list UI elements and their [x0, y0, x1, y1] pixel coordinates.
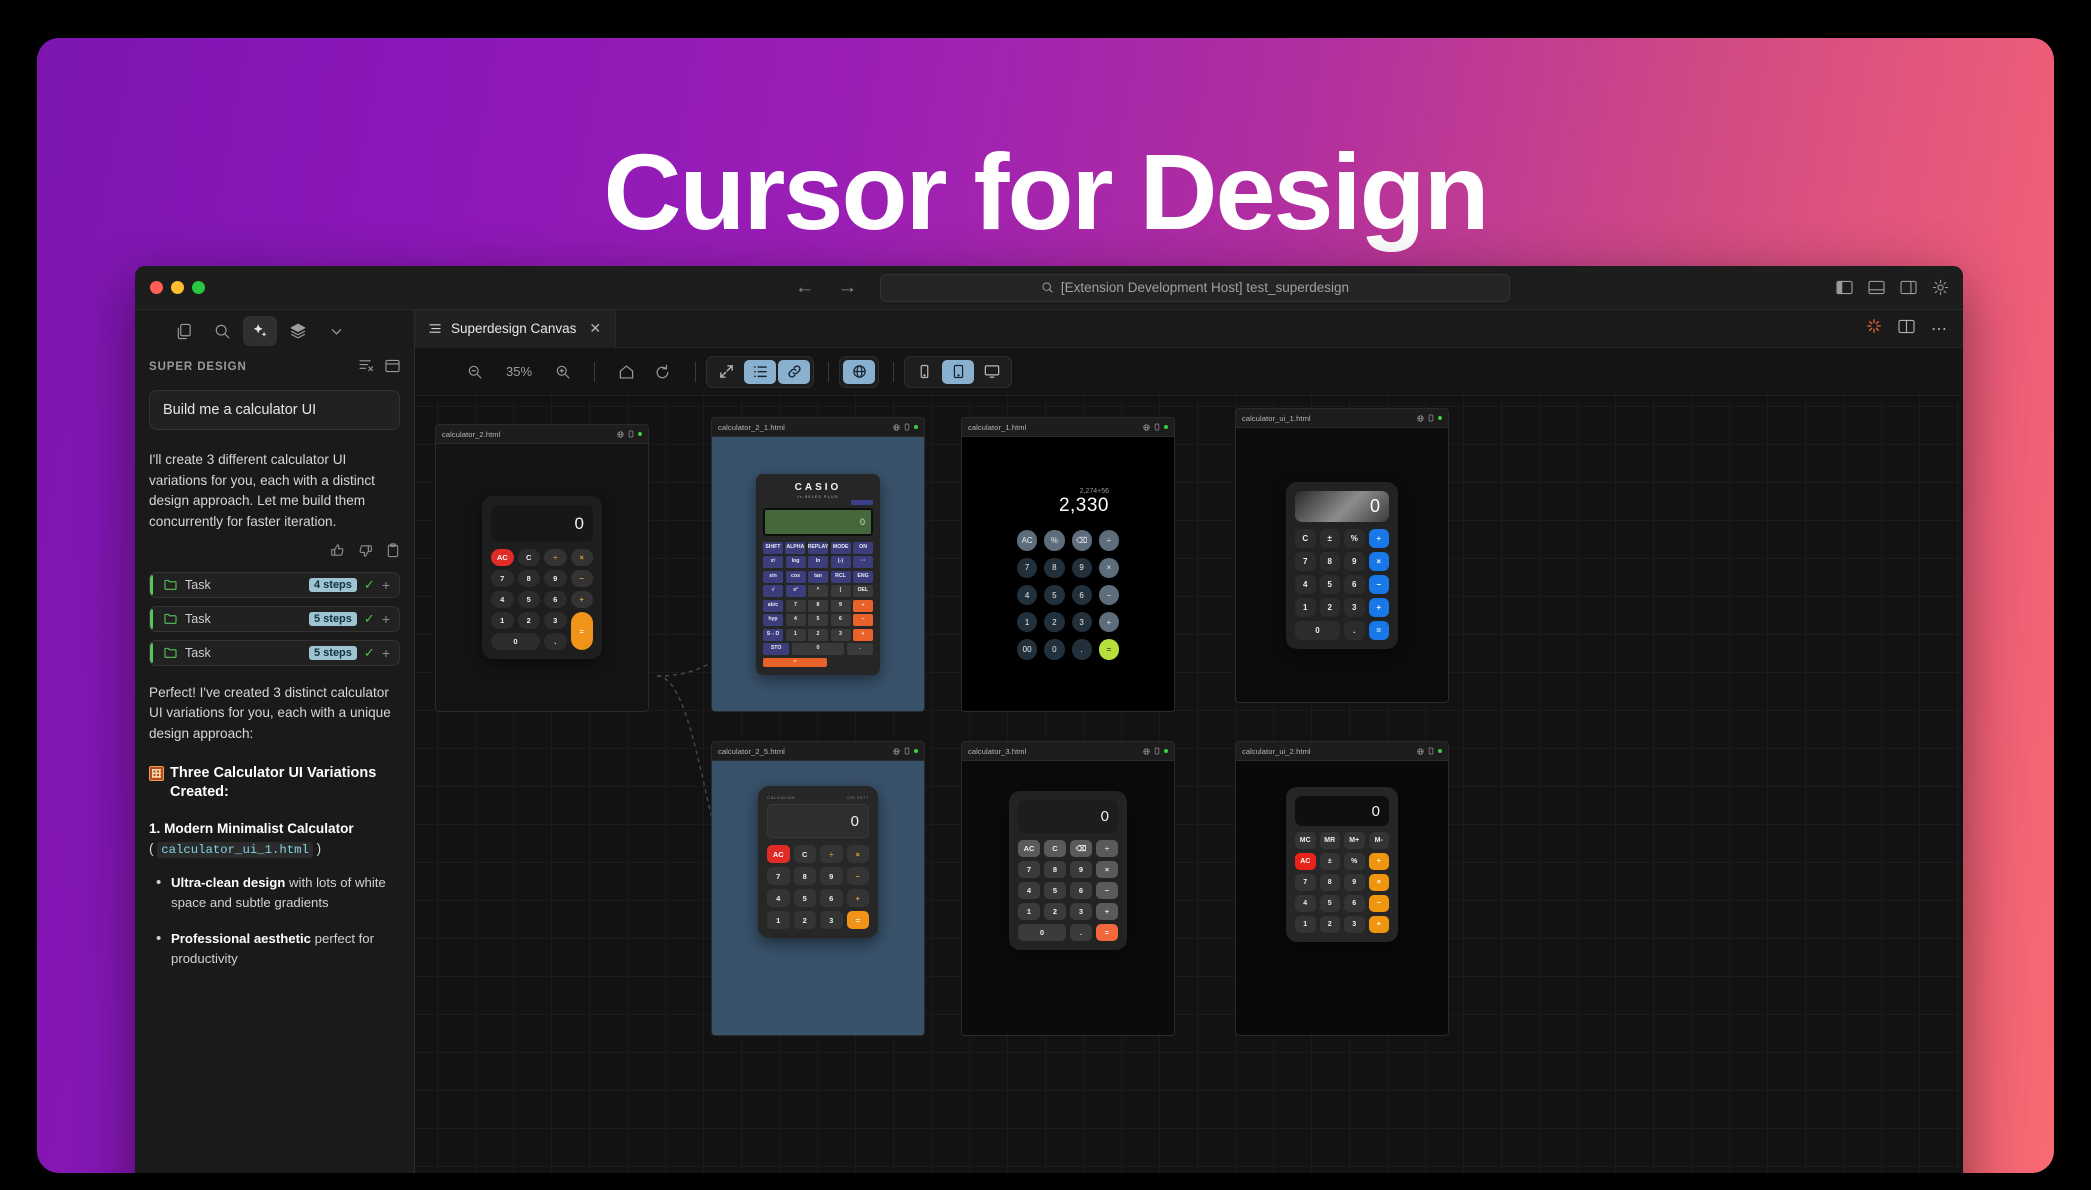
- artboard-header: calculator_ui_2.html: [1236, 742, 1448, 761]
- artboard-header: calculator_2_5.html: [712, 742, 924, 761]
- tab-label: Superdesign Canvas: [451, 321, 576, 336]
- variation-file-name[interactable]: calculator_ui_1.html: [157, 842, 313, 858]
- thumbs-up-icon[interactable]: [330, 543, 345, 558]
- artboard-header: calculator_ui_1.html: [1236, 409, 1448, 428]
- key-6[interactable]: 6: [1070, 882, 1092, 899]
- key-3[interactable]: 3: [544, 612, 567, 629]
- view-mode-segment: [706, 356, 814, 388]
- add-icon[interactable]: +: [382, 611, 390, 627]
- key-2[interactable]: 2: [1320, 916, 1341, 933]
- artboard-filename: calculator_2_1.html: [718, 423, 893, 432]
- key-backspace[interactable]: ⌫: [1072, 530, 1092, 550]
- panel-bottom-icon[interactable]: [1868, 280, 1885, 295]
- key-4[interactable]: 4: [1295, 575, 1316, 594]
- calculator-display: 0: [1295, 796, 1389, 826]
- artboard-card[interactable]: calculator_ui_2.html 0 MC: [1235, 741, 1449, 1036]
- key-rcl[interactable]: RCL: [831, 571, 851, 583]
- zoom-level[interactable]: 35%: [496, 364, 542, 379]
- key-sd[interactable]: S⇔D: [763, 629, 783, 641]
- key-tan[interactable]: tan: [808, 571, 828, 583]
- calculator-display: 0: [1018, 800, 1118, 833]
- search-icon[interactable]: [205, 316, 239, 346]
- key-4[interactable]: 4: [786, 614, 806, 626]
- key-3[interactable]: 3: [831, 629, 851, 641]
- key-1[interactable]: 1: [491, 612, 514, 629]
- editor-area: Superdesign Canvas ✕: [415, 310, 1963, 1173]
- key-equals[interactable]: =: [1099, 639, 1119, 659]
- key-hyp[interactable]: hyp: [763, 614, 783, 626]
- check-icon[interactable]: ✓: [364, 645, 375, 661]
- key-multiply[interactable]: ×: [1369, 552, 1390, 571]
- calculator-widget: 0 AC C ⌫ ÷ 7 8 9 × 4: [1009, 791, 1127, 950]
- artboard-filename: calculator_1.html: [968, 423, 1143, 432]
- key-shift[interactable]: SHIFT: [763, 542, 783, 554]
- back-icon[interactable]: ←: [795, 277, 814, 299]
- key-8[interactable]: 8: [808, 600, 828, 612]
- keypad-row: xʸ log ln (-) ···: [763, 556, 873, 568]
- key-2[interactable]: 2: [808, 629, 828, 641]
- live-status-dot: [1164, 425, 1168, 429]
- globe-icon[interactable]: [1417, 415, 1424, 422]
- keypad: AC % ⌫ ÷ 7 8 9 × 4 5: [1003, 530, 1133, 659]
- task-label: Task: [185, 646, 309, 660]
- calculator-display: 0: [767, 804, 869, 838]
- artboard-card[interactable]: calculator_ui_1.html 0 C: [1235, 408, 1449, 703]
- key-on[interactable]: ON: [853, 542, 873, 554]
- mobile-icon[interactable]: [1428, 414, 1434, 422]
- key-multiply[interactable]: ×: [1369, 874, 1390, 891]
- key-equals[interactable]: =: [847, 911, 870, 929]
- key-more[interactable]: ···: [853, 556, 873, 568]
- thumbs-down-icon[interactable]: [358, 543, 373, 558]
- artboard-header: calculator_2.html: [436, 425, 648, 444]
- check-icon[interactable]: ✓: [364, 611, 375, 627]
- key-plus[interactable]: +: [847, 889, 870, 907]
- close-window-button[interactable]: [150, 281, 163, 294]
- globe-segment: [839, 356, 879, 388]
- key-1[interactable]: 1: [1018, 903, 1040, 920]
- artboard-preview: 0 AC C ⌫ ÷ 7 8 9 × 4: [962, 761, 1174, 1035]
- canvas-toolbar: 35%: [415, 348, 1963, 396]
- artboard-card[interactable]: calculator_3.html 0 AC: [961, 741, 1175, 1036]
- desktop-icon[interactable]: [976, 360, 1008, 384]
- globe-icon[interactable]: [893, 424, 900, 431]
- key-double-zero[interactable]: 00: [1017, 639, 1037, 659]
- key-3[interactable]: 3: [1344, 598, 1365, 617]
- key-plus[interactable]: +: [1369, 598, 1390, 617]
- key-c[interactable]: C: [518, 549, 541, 566]
- key-minus[interactable]: −: [571, 570, 594, 587]
- key-4[interactable]: 4: [1017, 585, 1037, 605]
- key-6[interactable]: 6: [820, 889, 843, 907]
- key-ac[interactable]: AC: [1018, 840, 1040, 857]
- close-icon[interactable]: ✕: [589, 320, 601, 337]
- key-c[interactable]: C: [794, 845, 817, 863]
- keypad: AC C ÷ × 7 8 9 − 4 5: [767, 845, 869, 929]
- key-1[interactable]: 1: [1295, 598, 1316, 617]
- key-4[interactable]: 4: [1018, 882, 1040, 899]
- calculator-brand: CASIO: [763, 482, 873, 493]
- variations-heading-text: Three Calculator UI Variations Created:: [170, 764, 400, 803]
- key-plusminus[interactable]: ±: [1320, 853, 1341, 870]
- mobile-icon[interactable]: [1154, 423, 1160, 431]
- folder-icon: [164, 647, 177, 658]
- zoom-out-icon[interactable]: [460, 359, 490, 385]
- key-divide[interactable]: ÷: [820, 845, 843, 863]
- superdesign-sparkle-icon[interactable]: [243, 316, 277, 346]
- live-status-dot: [914, 749, 918, 753]
- explorer-icon[interactable]: [167, 316, 201, 346]
- tab-actions: ⋯: [1866, 310, 1963, 347]
- mobile-icon[interactable]: [628, 430, 634, 438]
- key-divide[interactable]: ÷: [853, 600, 873, 612]
- key-8[interactable]: 8: [1044, 861, 1066, 878]
- key-7[interactable]: 7: [1017, 558, 1037, 578]
- more-actions-icon[interactable]: ⋯: [1931, 319, 1947, 339]
- key-7[interactable]: 7: [767, 867, 790, 885]
- artboard-card[interactable]: calculator_2.html 0 AC: [435, 424, 649, 712]
- minimize-window-button[interactable]: [171, 281, 184, 294]
- key-replay[interactable]: REPLAY: [808, 542, 829, 554]
- key-decimal[interactable]: .: [544, 633, 567, 650]
- superdesign-sidebar: SUPER DESIGN: [135, 310, 415, 1173]
- key-3[interactable]: 3: [820, 911, 843, 929]
- key-power[interactable]: xʸ: [763, 556, 783, 568]
- panel-right-icon[interactable]: [1900, 280, 1917, 295]
- maximize-window-button[interactable]: [192, 281, 205, 294]
- task-row[interactable]: Task 5 steps ✓ +: [149, 640, 400, 666]
- key-9[interactable]: 9: [1344, 552, 1365, 571]
- key-2[interactable]: 2: [518, 612, 541, 629]
- key-3[interactable]: 3: [1344, 916, 1365, 933]
- mobile-icon[interactable]: [1428, 747, 1434, 755]
- mobile-icon[interactable]: [908, 360, 940, 384]
- copy-icon[interactable]: [386, 543, 400, 558]
- prompt-input[interactable]: Build me a calculator UI: [149, 390, 400, 430]
- keypad-row: √ x² ^ ( DEL: [763, 585, 873, 597]
- key-fraction[interactable]: ab/c: [763, 600, 783, 612]
- key-4[interactable]: 4: [767, 889, 790, 907]
- key-percent[interactable]: %: [1344, 853, 1365, 870]
- artboard-card[interactable]: calculator_1.html 2,274+56 2,330: [961, 417, 1175, 712]
- key-5[interactable]: 5: [1044, 585, 1064, 605]
- sidebar-title: SUPER DESIGN: [149, 361, 247, 373]
- keypad: AC C ÷ × 7 8 9 − 4 5: [491, 549, 593, 650]
- key-5[interactable]: 5: [1320, 575, 1341, 594]
- globe-icon[interactable]: [1417, 748, 1424, 755]
- key-del[interactable]: DEL: [853, 585, 873, 597]
- key-6[interactable]: 6: [544, 591, 567, 608]
- key-divide[interactable]: ÷: [1099, 530, 1119, 550]
- key-divide[interactable]: ÷: [544, 549, 567, 566]
- key-backspace[interactable]: ⌫: [1070, 840, 1092, 857]
- key-plus[interactable]: +: [853, 629, 873, 641]
- key-decimal[interactable]: .: [1070, 924, 1092, 941]
- list-item: Professional aesthetic perfect for produ…: [149, 929, 400, 969]
- key-c[interactable]: C: [1295, 529, 1316, 548]
- key-9[interactable]: 9: [1344, 874, 1365, 891]
- key-7[interactable]: 7: [1295, 552, 1316, 571]
- key-sin[interactable]: sin: [763, 571, 783, 583]
- home-icon[interactable]: [611, 359, 641, 385]
- globe-icon[interactable]: [1143, 748, 1150, 755]
- key-0[interactable]: 0: [1044, 639, 1064, 659]
- key-9[interactable]: 9: [1070, 861, 1092, 878]
- new-panel-icon[interactable]: [385, 359, 400, 376]
- brand-left: CALCULON: [767, 795, 795, 800]
- zoom-in-icon[interactable]: [548, 359, 578, 385]
- globe-icon[interactable]: [617, 431, 624, 438]
- paren-open: (: [149, 841, 154, 856]
- key-minus[interactable]: −: [1096, 882, 1118, 899]
- key-divide[interactable]: ÷: [1369, 529, 1390, 548]
- key-alpha[interactable]: ALPHA: [785, 542, 805, 554]
- task-row[interactable]: Task 4 steps ✓ +: [149, 572, 400, 598]
- nav-arrows: ← →: [795, 277, 857, 299]
- key-plus[interactable]: +: [1369, 916, 1390, 933]
- key-multiply[interactable]: ×: [1099, 558, 1119, 578]
- artboard-preview: CASIO fx-991ES PLUS 0 SHIFT ALPHA REPLAY…: [712, 437, 924, 711]
- task-steps-badge: 5 steps: [309, 612, 357, 626]
- key-8[interactable]: 8: [794, 867, 817, 885]
- keypad: C ± % ÷ 7 8 9 × 4 5: [1295, 529, 1389, 640]
- key-sto[interactable]: STO: [763, 643, 789, 655]
- key-8[interactable]: 8: [518, 570, 541, 587]
- key-0[interactable]: 0: [1295, 621, 1340, 640]
- key-m-minus[interactable]: M-: [1369, 832, 1390, 849]
- calculator-display: 0: [491, 505, 593, 542]
- key-plus[interactable]: +: [1096, 903, 1118, 920]
- key-5[interactable]: 5: [808, 614, 828, 626]
- key-c[interactable]: C: [1044, 840, 1066, 857]
- key-minus[interactable]: −: [847, 867, 870, 885]
- key-divide[interactable]: ÷: [1096, 840, 1118, 857]
- forward-icon[interactable]: →: [838, 277, 857, 299]
- key-ac[interactable]: AC: [1017, 530, 1037, 550]
- key-cos[interactable]: cos: [786, 571, 806, 583]
- key-decimal[interactable]: .: [1072, 639, 1092, 659]
- key-equals[interactable]: =: [763, 658, 827, 667]
- keypad-row: S⇔D 1 2 3 +: [763, 629, 873, 641]
- sidebar-scroll[interactable]: Build me a calculator UI I'll create 3 d…: [135, 382, 414, 1173]
- key-decimal[interactable]: .: [847, 643, 873, 655]
- layers-icon[interactable]: [281, 316, 315, 346]
- key-7[interactable]: 7: [1295, 874, 1316, 891]
- key-9[interactable]: 9: [820, 867, 843, 885]
- bullet-list: Ultra-clean design with lots of white sp…: [149, 873, 400, 968]
- key-0[interactable]: 0: [1018, 924, 1066, 941]
- key-ac[interactable]: AC: [767, 845, 790, 863]
- key-3[interactable]: 3: [1072, 612, 1092, 632]
- key-minus[interactable]: −: [1369, 895, 1390, 912]
- globe-icon[interactable]: [843, 360, 875, 384]
- key-negate[interactable]: (-): [831, 556, 851, 568]
- task-row[interactable]: Task 5 steps ✓ +: [149, 606, 400, 632]
- key-6[interactable]: 6: [831, 614, 851, 626]
- artboard-filename: calculator_3.html: [968, 747, 1143, 756]
- key-equals[interactable]: =: [571, 612, 594, 650]
- key-2[interactable]: 2: [1044, 612, 1064, 632]
- key-7[interactable]: 7: [1018, 861, 1040, 878]
- key-mc[interactable]: MC: [1295, 832, 1316, 849]
- keypad: MC MR M+ M- AC ± % ÷ 7 8: [1295, 832, 1389, 933]
- tablet-icon[interactable]: [942, 360, 974, 384]
- key-9[interactable]: 9: [1072, 558, 1092, 578]
- key-4[interactable]: 4: [491, 591, 514, 608]
- folder-icon: [164, 613, 177, 624]
- key-2[interactable]: 2: [1044, 903, 1066, 920]
- key-9[interactable]: 9: [831, 600, 851, 612]
- key-ln[interactable]: ln: [808, 556, 828, 568]
- key-sqrt[interactable]: √: [763, 585, 783, 597]
- key-1[interactable]: 1: [1017, 612, 1037, 632]
- calculator-widget: 0 MC MR M+ M- AC ± % ÷: [1286, 787, 1398, 942]
- key-8[interactable]: 8: [1320, 552, 1341, 571]
- mobile-icon[interactable]: [904, 747, 910, 755]
- vscode-window: ← → [Extension Development Host] test_su…: [135, 266, 1963, 1173]
- key-0[interactable]: 0: [792, 643, 845, 655]
- check-icon[interactable]: ✓: [364, 577, 375, 593]
- key-4[interactable]: 4: [1295, 895, 1316, 912]
- globe-icon[interactable]: [1143, 424, 1150, 431]
- calculator-widget: 0 C ± % ÷ 7 8 9 × 4: [1286, 482, 1398, 649]
- key-square[interactable]: x²: [786, 585, 806, 597]
- key-percent[interactable]: %: [1044, 530, 1064, 550]
- keypad-row: hyp 4 5 6 −: [763, 614, 873, 626]
- key-equals[interactable]: =: [1096, 924, 1118, 941]
- add-icon[interactable]: +: [382, 645, 390, 661]
- key-eng[interactable]: ENG: [853, 571, 873, 583]
- key-mode[interactable]: MODE: [831, 542, 851, 554]
- key-5[interactable]: 5: [518, 591, 541, 608]
- key-caret[interactable]: ^: [808, 585, 828, 597]
- key-1[interactable]: 1: [1295, 916, 1316, 933]
- artboard-card[interactable]: calculator_2_5.html CALCULON: [711, 741, 925, 1036]
- key-minus[interactable]: −: [1369, 575, 1390, 594]
- design-canvas[interactable]: calculator_2.html 0 AC: [415, 396, 1963, 1173]
- key-6[interactable]: 6: [1072, 585, 1092, 605]
- key-percent[interactable]: %: [1344, 529, 1365, 548]
- key-1[interactable]: 1: [767, 911, 790, 929]
- calculator-widget: CASIO fx-991ES PLUS 0 SHIFT ALPHA REPLAY…: [756, 474, 880, 675]
- key-minus[interactable]: −: [1099, 585, 1119, 605]
- key-divide[interactable]: ÷: [1369, 853, 1390, 870]
- key-2[interactable]: 2: [1320, 598, 1341, 617]
- key-ac[interactable]: AC: [491, 549, 514, 566]
- variations-heading: Three Calculator UI Variations Created:: [149, 764, 400, 803]
- task-steps-badge: 5 steps: [309, 646, 357, 660]
- fit-screen-icon[interactable]: [710, 360, 742, 384]
- chevron-down-icon[interactable]: [319, 316, 353, 346]
- artboard-preview: 0 C ± % ÷ 7 8 9 × 4: [1236, 428, 1448, 702]
- tab-superdesign-canvas[interactable]: Superdesign Canvas ✕: [415, 310, 616, 347]
- task-steps-badge: 4 steps: [309, 578, 357, 592]
- live-status-dot: [914, 425, 918, 429]
- mobile-icon[interactable]: [1154, 747, 1160, 755]
- key-1[interactable]: 1: [786, 629, 806, 641]
- key-multiply[interactable]: ×: [1096, 861, 1118, 878]
- split-editor-icon[interactable]: [1898, 319, 1915, 339]
- variation-file-line: ( calculator_ui_1.html ): [149, 841, 400, 857]
- key-5[interactable]: 5: [1044, 882, 1066, 899]
- calculator-display: 0: [1295, 491, 1389, 522]
- key-plus[interactable]: +: [1099, 612, 1119, 632]
- key-8[interactable]: 8: [1044, 558, 1064, 578]
- activity-bar: [135, 310, 414, 352]
- link-icon[interactable]: [778, 360, 810, 384]
- tab-bar: Superdesign Canvas ✕: [415, 310, 1963, 348]
- key-multiply[interactable]: ×: [847, 845, 870, 863]
- key-mr[interactable]: MR: [1320, 832, 1341, 849]
- live-status-dot: [1438, 749, 1442, 753]
- calculator-widget: 2,274+56 2,330 AC % ⌫ ÷ 7 8 9: [1003, 488, 1133, 659]
- brand-right: CR-1977: [847, 795, 869, 800]
- artboard-card[interactable]: calculator_2_1.html CASIO fx-991ES PLUS: [711, 417, 925, 712]
- artboard-filename: calculator_2.html: [442, 430, 617, 439]
- key-3[interactable]: 3: [1070, 903, 1092, 920]
- key-plus[interactable]: +: [571, 591, 594, 608]
- add-icon[interactable]: +: [382, 577, 390, 593]
- clear-list-icon[interactable]: [359, 359, 374, 375]
- key-log[interactable]: log: [786, 556, 806, 568]
- key-equals[interactable]: =: [1369, 621, 1390, 640]
- key-minus[interactable]: −: [853, 614, 873, 626]
- assistant-message: I'll create 3 different calculator UI va…: [149, 450, 400, 533]
- calculator-display: 0: [763, 508, 873, 536]
- key-6[interactable]: 6: [1344, 575, 1365, 594]
- command-center-input[interactable]: [Extension Development Host] test_superd…: [880, 274, 1510, 302]
- key-8[interactable]: 8: [1320, 874, 1341, 891]
- key-decimal[interactable]: .: [1344, 621, 1365, 640]
- mobile-icon[interactable]: [904, 423, 910, 431]
- task-label: Task: [185, 612, 309, 626]
- calculator-model: fx-991ES PLUS: [763, 494, 873, 499]
- folder-icon: [164, 579, 177, 590]
- key-m-plus[interactable]: M+: [1344, 832, 1365, 849]
- key-9[interactable]: 9: [544, 570, 567, 587]
- calculator-expression: 2,274+56: [1003, 488, 1133, 495]
- key-5[interactable]: 5: [794, 889, 817, 907]
- globe-icon[interactable]: [893, 748, 900, 755]
- keypad: AC C ⌫ ÷ 7 8 9 × 4 5: [1018, 840, 1118, 941]
- key-7[interactable]: 7: [491, 570, 514, 587]
- calculator-display: 2,330: [1003, 495, 1133, 517]
- traffic-lights[interactable]: [150, 281, 205, 294]
- artboard-preview: 0 MC MR M+ M- AC ± % ÷: [1236, 761, 1448, 1035]
- window-titlebar: ← → [Extension Development Host] test_su…: [135, 266, 1963, 310]
- key-multiply[interactable]: ×: [571, 549, 594, 566]
- refresh-icon[interactable]: [647, 359, 677, 385]
- gear-icon[interactable]: [1932, 279, 1949, 296]
- task-label: Task: [185, 578, 309, 592]
- key-paren[interactable]: (: [831, 585, 851, 597]
- sparkle-orange-icon[interactable]: [1866, 318, 1882, 339]
- omnibox-text: [Extension Development Host] test_superd…: [1061, 280, 1349, 295]
- key-2[interactable]: 2: [794, 911, 817, 929]
- solar-cell: [851, 500, 873, 505]
- panel-left-icon[interactable]: [1836, 280, 1853, 295]
- summary-text: Perfect! I've created 3 distinct calcula…: [149, 683, 400, 745]
- key-5[interactable]: 5: [1320, 895, 1341, 912]
- key-plusminus[interactable]: ±: [1320, 529, 1341, 548]
- list-view-icon[interactable]: [744, 360, 776, 384]
- artboard-filename: calculator_2_5.html: [718, 747, 893, 756]
- key-7[interactable]: 7: [786, 600, 806, 612]
- key-6[interactable]: 6: [1344, 895, 1365, 912]
- sidebar-header: SUPER DESIGN: [135, 352, 414, 382]
- key-0[interactable]: 0: [491, 633, 540, 650]
- key-ac[interactable]: AC: [1295, 853, 1316, 870]
